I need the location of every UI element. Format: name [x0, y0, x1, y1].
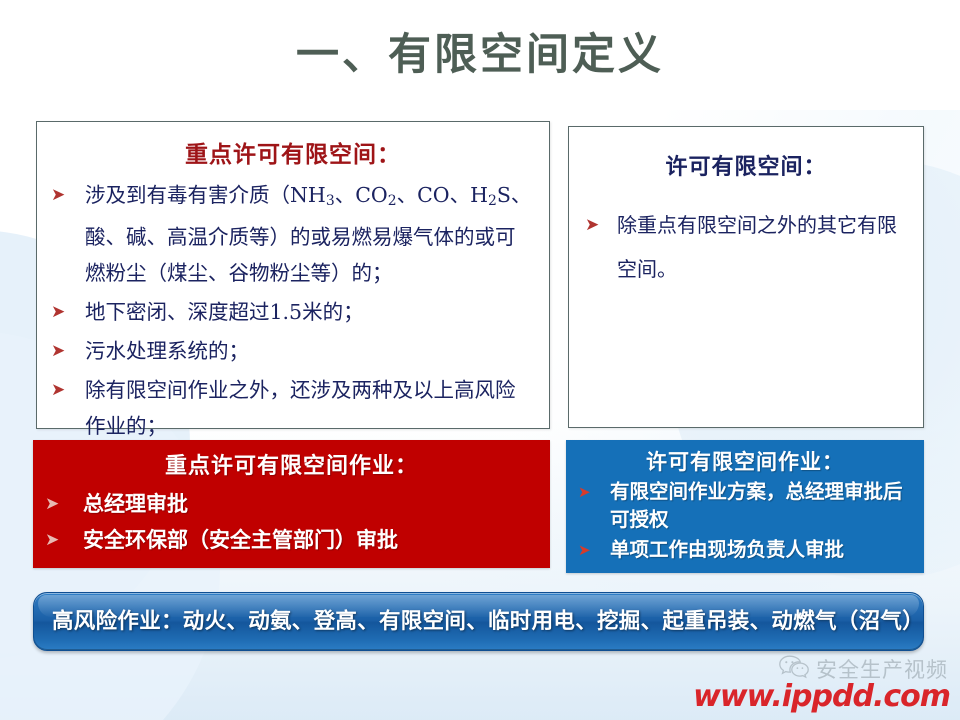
list-item-text: 单项工作由现场负责人审批: [610, 536, 912, 564]
watermark: 安全生产视频 www.ippdd.com: [652, 652, 952, 714]
list-item: ➤ 有限空间作业方案，总经理审批后可授权: [578, 478, 912, 534]
list-item-text: 有限空间作业方案，总经理审批后可授权: [610, 478, 912, 534]
list-item-text: 除重点有限空间之外的其它有限空间。: [617, 203, 907, 291]
list-item: ➤ 地下密闭、深度超过1.5米的；: [51, 294, 535, 330]
arrow-bullet-icon: ➤: [585, 203, 607, 247]
arrow-bullet-icon: ➤: [578, 478, 600, 506]
focus-definition-list: ➤ 涉及到有毒有害介质（NH3、CO2、CO、H2S、酸、碱、高温介质等）的或易…: [51, 177, 535, 444]
focus-work-card: 重点许可有限空间作业： ➤ 总经理审批 ➤ 安全环保部（安全主管部门）审批: [33, 440, 550, 568]
high-risk-banner-text: 高风险作业：动火、动氨、登高、有限空间、临时用电、挖掘、起重吊装、动燃气（沼气）: [34, 593, 923, 650]
list-item: ➤ 涉及到有毒有害介质（NH3、CO2、CO、H2S、酸、碱、高温介质等）的或易…: [51, 177, 535, 291]
arrow-bullet-icon: ➤: [51, 294, 73, 330]
list-item-text: 安全环保部（安全主管部门）审批: [83, 522, 538, 558]
list-item: ➤ 总经理审批: [45, 486, 538, 522]
list-item-text: 总经理审批: [83, 486, 538, 522]
permit-definition-list: ➤ 除重点有限空间之外的其它有限空间。: [585, 203, 907, 291]
list-item: ➤ 污水处理系统的；: [51, 333, 535, 369]
focus-work-heading: 重点许可有限空间作业：: [45, 448, 538, 480]
permit-definition-heading: 许可有限空间：: [585, 149, 907, 181]
list-item-text: 涉及到有毒有害介质（NH3、CO2、CO、H2S、酸、碱、高温介质等）的或易燃易…: [85, 177, 535, 291]
list-item: ➤ 安全环保部（安全主管部门）审批: [45, 522, 538, 558]
list-item: ➤ 单项工作由现场负责人审批: [578, 536, 912, 564]
focus-work-list: ➤ 总经理审批 ➤ 安全环保部（安全主管部门）审批: [45, 486, 538, 558]
arrow-bullet-icon: ➤: [51, 372, 73, 408]
list-item-text: 除有限空间作业之外，还涉及两种及以上高风险作业的；: [85, 372, 535, 444]
list-item: ➤ 除重点有限空间之外的其它有限空间。: [585, 203, 907, 291]
focus-definition-heading: 重点许可有限空间：: [51, 135, 535, 169]
list-item: ➤ 除有限空间作业之外，还涉及两种及以上高风险作业的；: [51, 372, 535, 444]
permit-work-heading: 许可有限空间作业：: [578, 446, 912, 476]
permit-work-card: 许可有限空间作业： ➤ 有限空间作业方案，总经理审批后可授权 ➤ 单项工作由现场…: [566, 440, 924, 573]
list-item-text: 污水处理系统的；: [85, 333, 535, 369]
list-item-text: 地下密闭、深度超过1.5米的；: [85, 294, 535, 330]
high-risk-banner: 高风险作业：动火、动氨、登高、有限空间、临时用电、挖掘、起重吊装、动燃气（沼气）: [33, 592, 924, 651]
arrow-bullet-icon: ➤: [578, 536, 600, 564]
permit-work-list: ➤ 有限空间作业方案，总经理审批后可授权 ➤ 单项工作由现场负责人审批: [578, 478, 912, 564]
slide-canvas: 一、有限空间定义 重点许可有限空间： ➤ 涉及到有毒有害介质（NH3、CO2、C…: [0, 0, 960, 720]
permit-definition-card: 许可有限空间： ➤ 除重点有限空间之外的其它有限空间。: [568, 126, 924, 428]
arrow-bullet-icon: ➤: [45, 522, 67, 558]
arrow-bullet-icon: ➤: [45, 486, 67, 522]
arrow-bullet-icon: ➤: [51, 177, 73, 213]
watermark-url: www.ippdd.com: [693, 679, 950, 714]
arrow-bullet-icon: ➤: [51, 333, 73, 369]
focus-definition-card: 重点许可有限空间： ➤ 涉及到有毒有害介质（NH3、CO2、CO、H2S、酸、碱…: [36, 121, 550, 429]
page-title: 一、有限空间定义: [0, 32, 960, 79]
